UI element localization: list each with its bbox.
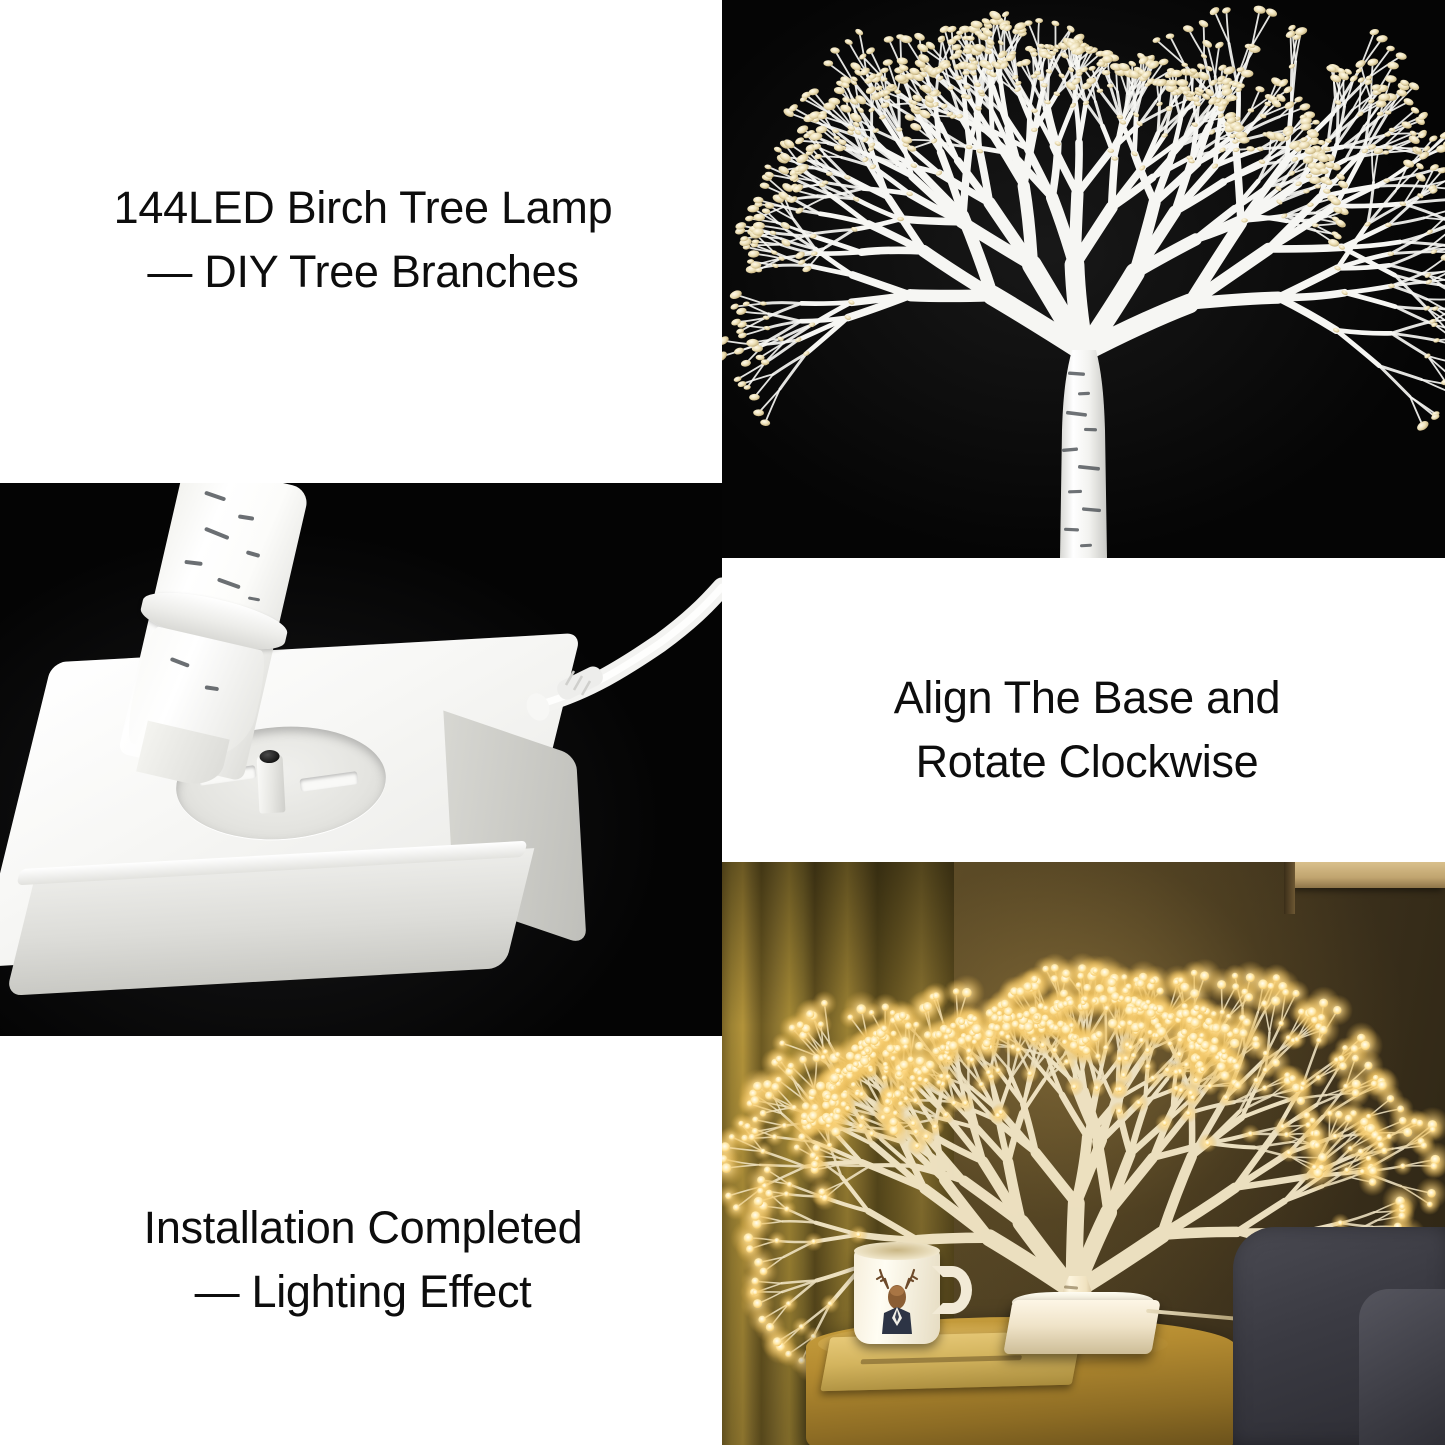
- caption-step-complete: Installation Completed — Lighting Effect: [18, 1196, 708, 1324]
- photo-lamp-base-closeup: ⏻ 1 STEADY ON 2 TIMER 3 OFF: [0, 483, 722, 1036]
- caption-product-title: 144LED Birch Tree Lamp — DIY Tree Branch…: [18, 176, 708, 304]
- caption-step-align: Align The Base and Rotate Clockwise: [742, 666, 1432, 794]
- armchair-armrest: [1359, 1289, 1445, 1445]
- unlit-tree-illustration: [722, 0, 1445, 558]
- mug-handle: [932, 1266, 972, 1314]
- mug-rim: [854, 1242, 940, 1260]
- photo-unlit-birch-tree: [722, 0, 1445, 558]
- deer-print-graphic: [868, 1266, 926, 1334]
- dc-power-cable: [0, 483, 722, 1036]
- product-infographic: 144LED Birch Tree Lamp — DIY Tree Branch…: [0, 0, 1445, 1445]
- lamp-base: [1003, 1300, 1161, 1354]
- photo-lit-tree-room: [722, 862, 1445, 1445]
